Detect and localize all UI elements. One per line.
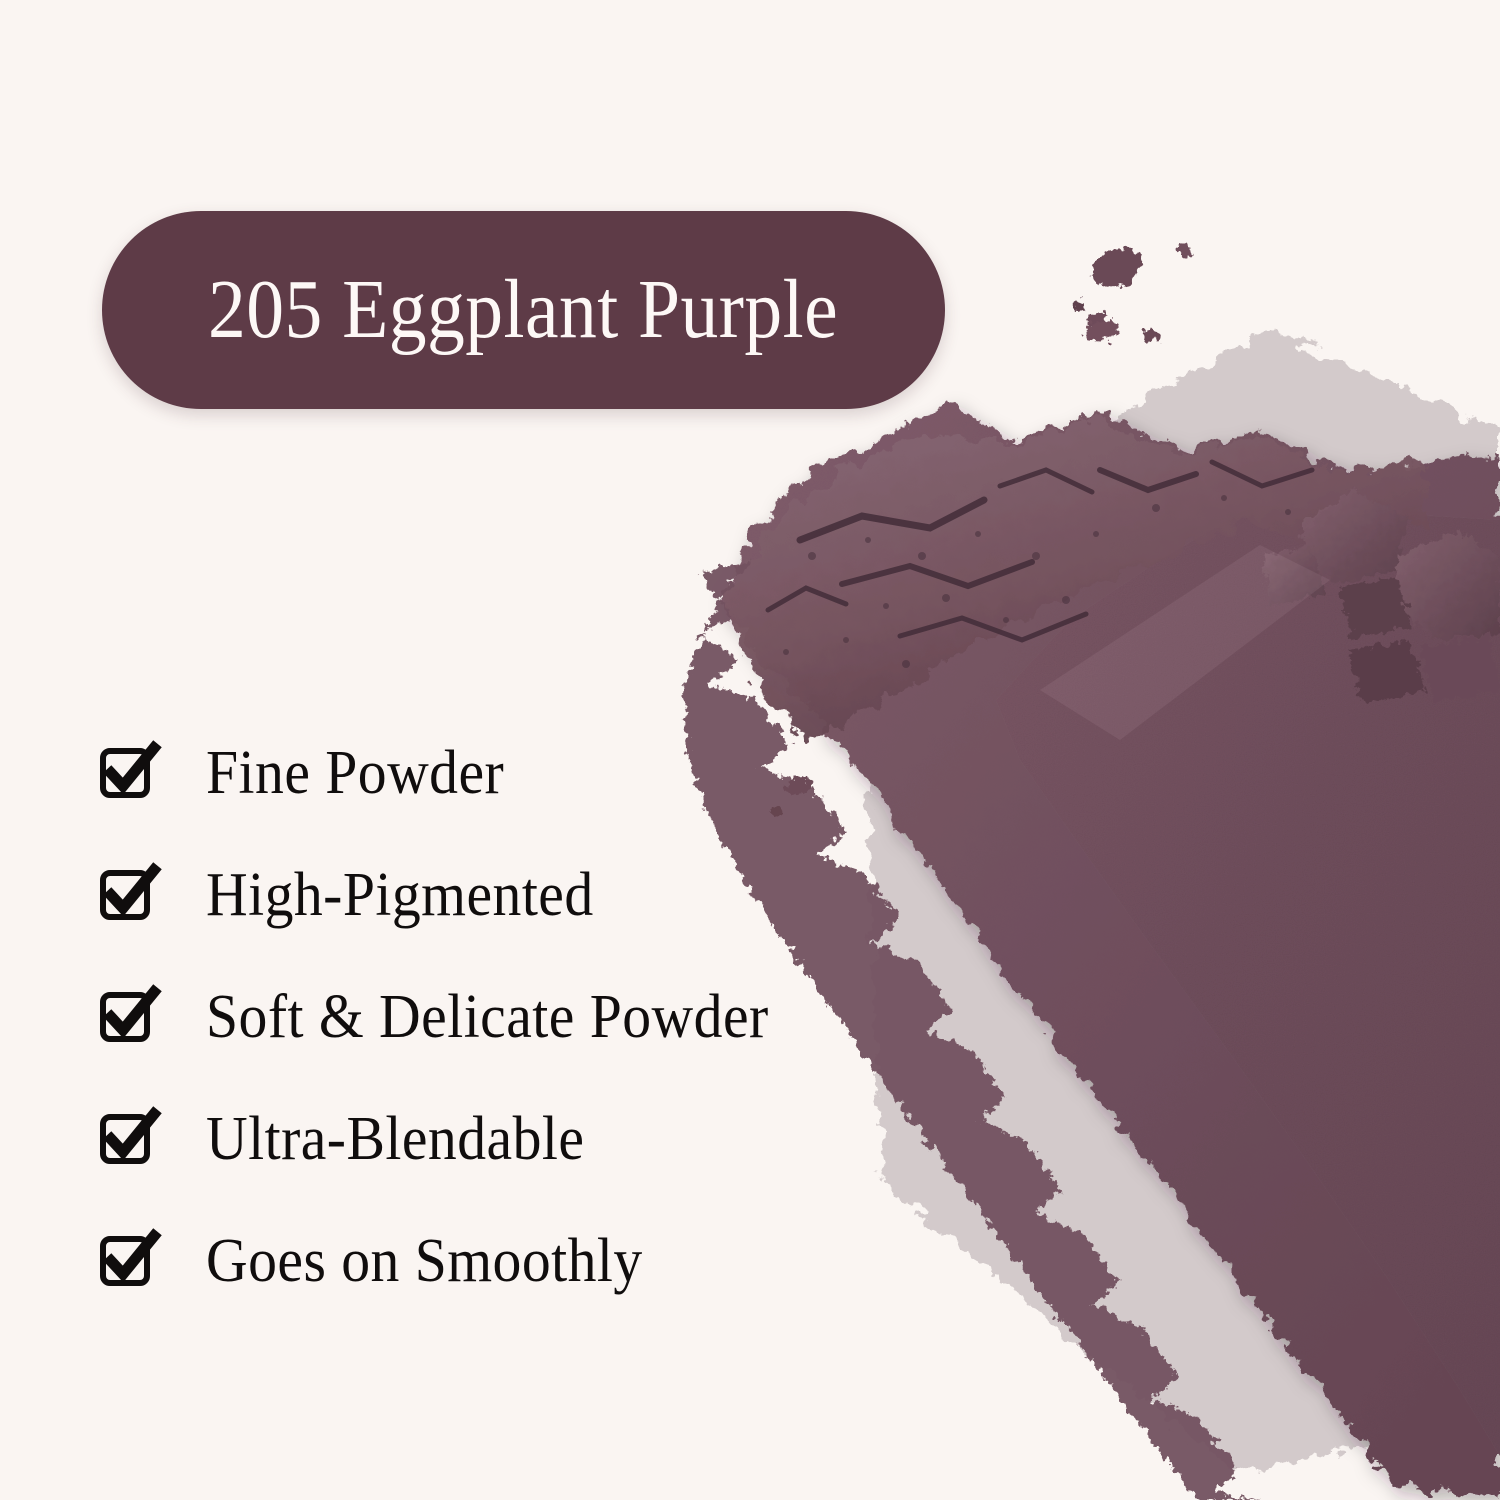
powder-cast-shadow [860, 330, 1500, 1470]
feature-item: Ultra-Blendable [100, 1078, 920, 1200]
product-feature-graphic: 205 Eggplant Purple Fine Powder High-Pig… [0, 0, 1500, 1500]
checkbox-checked-icon [100, 1112, 158, 1166]
feature-item: Goes on Smoothly [100, 1200, 920, 1322]
powder-highlight [1040, 545, 1330, 740]
powder-top-ridge [722, 418, 1430, 742]
feature-label: Ultra-Blendable [206, 1108, 584, 1170]
powder-shards-right [1262, 492, 1500, 704]
feature-item: Fine Powder [100, 712, 920, 834]
feature-label: High-Pigmented [206, 864, 594, 926]
shade-name-label: 205 Eggplant Purple [208, 268, 838, 352]
feature-label: Goes on Smoothly [206, 1230, 643, 1292]
checkbox-checked-icon [100, 868, 158, 922]
powder-smooth-face [996, 505, 1500, 1456]
checkbox-checked-icon [100, 1234, 158, 1288]
feature-item: High-Pigmented [100, 834, 920, 956]
feature-label: Soft & Delicate Powder [206, 986, 769, 1048]
shade-name-badge: 205 Eggplant Purple [102, 211, 945, 409]
checkbox-checked-icon [100, 746, 158, 800]
checkbox-checked-icon [100, 990, 158, 1044]
feature-checklist: Fine Powder High-Pigmented Soft & Delica… [100, 712, 920, 1322]
feature-label: Fine Powder [206, 742, 504, 804]
feature-item: Soft & Delicate Powder [100, 956, 920, 1078]
